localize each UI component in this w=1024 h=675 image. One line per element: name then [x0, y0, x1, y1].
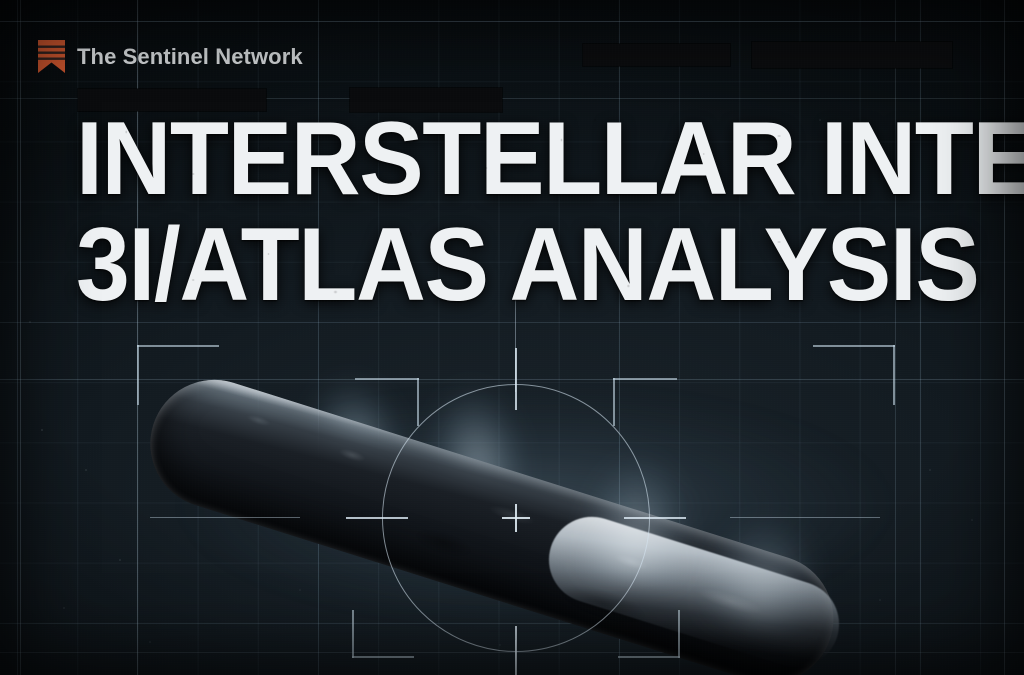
sentinel-bookmark-icon	[38, 40, 65, 73]
headline-line-2: 3I/ATLAS ANALYSIS	[76, 216, 913, 316]
brand-name: The Sentinel Network	[77, 44, 303, 70]
page-title: INTERSTELLAR INTERCEPT// 3I/ATLAS ANALYS…	[76, 110, 976, 316]
headline-line-1-text: INTERSTELLAR INTERCEPT	[76, 101, 1024, 217]
brand-lockup[interactable]: The Sentinel Network	[38, 40, 303, 73]
poster-canvas: The Sentinel Network INTERSTELLAR INTERC…	[0, 0, 1024, 675]
redaction-bar-top-2	[752, 42, 952, 68]
redaction-bar-top-1	[583, 44, 730, 66]
headline-line-1: INTERSTELLAR INTERCEPT//	[76, 110, 913, 210]
